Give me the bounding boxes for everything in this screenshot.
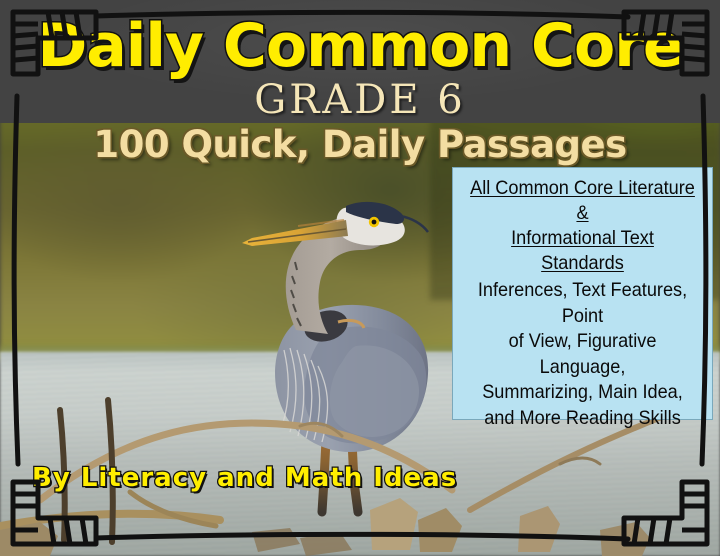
author-credit: By Literacy and Math Ideas xyxy=(32,463,457,493)
info-headline-line-2: Informational Text xyxy=(468,226,698,251)
subtitle: 100 Quick, Daily Passages xyxy=(0,124,720,166)
grade-label: GRADE 6 xyxy=(0,78,720,122)
info-headline-line-1: All Common Core Literature & xyxy=(468,176,698,226)
page-title: Daily Common Core xyxy=(0,14,720,78)
info-body: Inferences, Text Features, Point of View… xyxy=(459,278,706,431)
info-headline-line-3: Standards xyxy=(468,251,698,276)
info-body-line-1: Inferences, Text Features, Point xyxy=(468,278,698,329)
info-body-line-4: and More Reading Skills xyxy=(468,406,698,432)
info-body-line-2: of View, Figurative Language, xyxy=(468,329,698,380)
standards-info-box: All Common Core Literature & Information… xyxy=(452,167,713,420)
product-cover: Daily Common Core GRADE 6 100 Quick, Dai… xyxy=(0,0,720,556)
info-body-line-3: Summarizing, Main Idea, xyxy=(468,380,698,406)
